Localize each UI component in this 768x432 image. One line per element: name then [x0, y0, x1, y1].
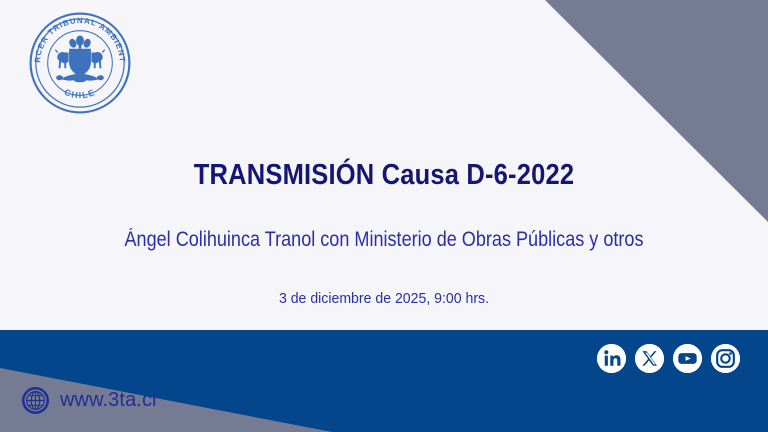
broadcast-announcement-slide: TERCER TRIBUNAL AMBIENTAL CHILE TRANSMIS…: [0, 0, 768, 432]
website-footer[interactable]: www.3ta.cl: [22, 387, 157, 414]
instagram-icon[interactable]: [711, 344, 740, 373]
social-links-bar: [597, 344, 740, 373]
coat-of-arms: [55, 36, 106, 83]
seal-ring-text-bottom: CHILE: [63, 87, 97, 100]
tribunal-seal-logo: TERCER TRIBUNAL AMBIENTAL CHILE: [23, 6, 137, 120]
linkedin-icon[interactable]: [597, 344, 626, 373]
website-url-label[interactable]: www.3ta.cl: [60, 389, 157, 412]
globe-icon: [22, 387, 49, 414]
youtube-icon[interactable]: [673, 344, 702, 373]
x-twitter-icon[interactable]: [635, 344, 664, 373]
